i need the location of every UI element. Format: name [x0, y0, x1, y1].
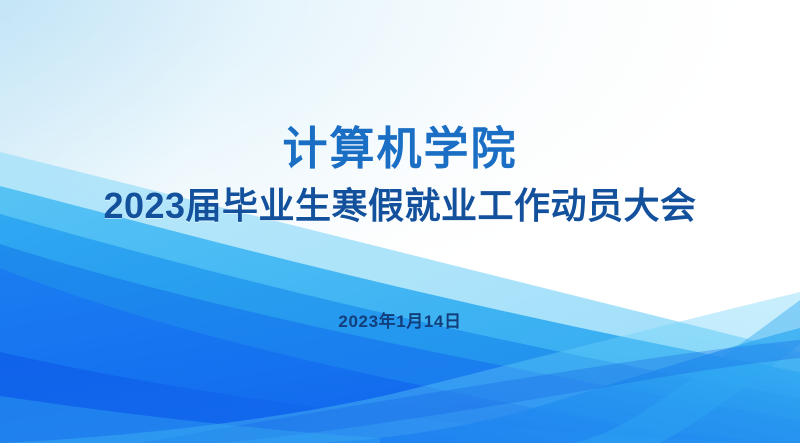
page-title: 计算机学院: [0, 124, 800, 174]
page-subtitle: 2023届毕业生寒假就业工作动员大会: [0, 186, 800, 226]
presentation-title-slide: 计算机学院 2023届毕业生寒假就业工作动员大会 2023年1月14日: [0, 0, 800, 443]
slide-text-layer: 计算机学院 2023届毕业生寒假就业工作动员大会 2023年1月14日: [0, 0, 800, 443]
slide-date: 2023年1月14日: [0, 312, 800, 332]
